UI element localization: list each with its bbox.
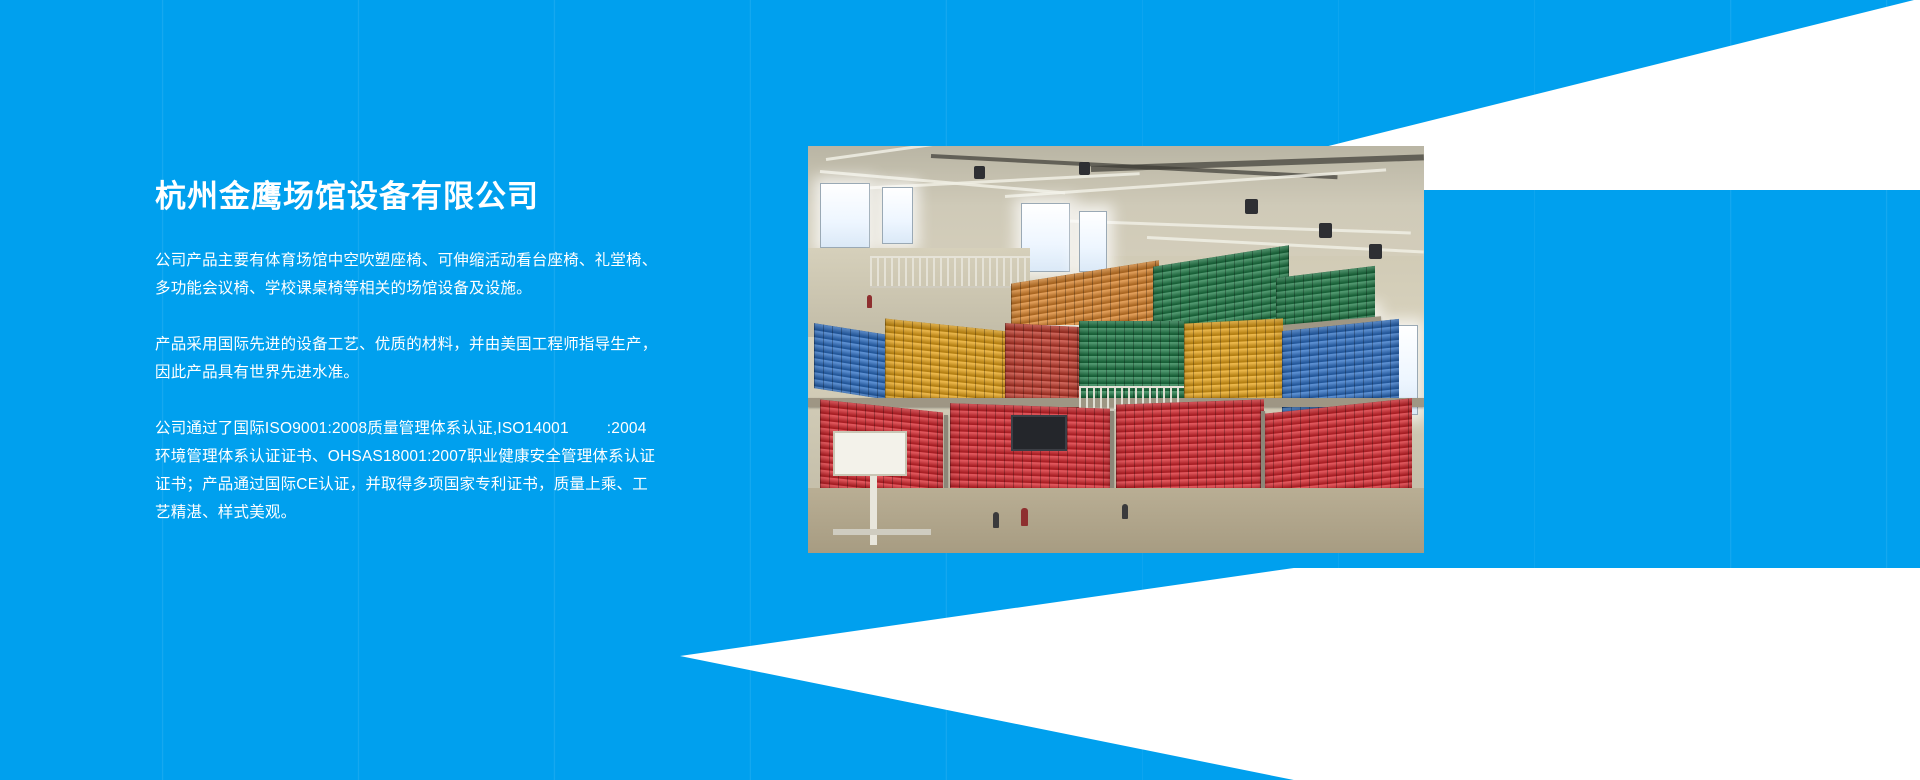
hall-window <box>820 183 869 248</box>
certification-text-part-1: 公司通过了国际ISO9001:2008质量管理体系认证,ISO14001 <box>155 420 569 437</box>
balcony-railing <box>870 256 1030 289</box>
ceiling-light <box>1245 199 1258 214</box>
seat-block-yellow-mid-right <box>1184 318 1283 409</box>
seat-block-red-mid <box>1005 323 1079 408</box>
ceiling-light <box>1369 244 1382 259</box>
person-figure <box>1122 504 1128 519</box>
ceiling-light <box>1319 223 1332 238</box>
hero-banner: 杭州金鹰场馆设备有限公司 公司产品主要有体育场馆中空吹塑座椅、可伸缩活动看台座椅… <box>0 0 1920 780</box>
basketball-hoop-base <box>833 529 932 535</box>
intro-paragraph-products: 公司产品主要有体育场馆中空吹塑座椅、可伸缩活动看台座椅、礼堂椅、多功能会议椅、学… <box>155 247 660 303</box>
gymnasium-photo-image <box>808 146 1424 553</box>
intro-paragraph-certifications: 公司通过了国际ISO9001:2008质量管理体系认证,ISO14001:200… <box>155 415 660 527</box>
court-floor <box>808 488 1424 553</box>
basketball-backboard <box>833 431 907 476</box>
ceiling-light <box>1079 162 1090 175</box>
person-figure <box>867 295 872 308</box>
company-intro-block: 杭州金鹰场馆设备有限公司 公司产品主要有体育场馆中空吹塑座椅、可伸缩活动看台座椅… <box>155 178 660 527</box>
person-figure <box>993 512 999 528</box>
page-title: 杭州金鹰场馆设备有限公司 <box>155 178 660 217</box>
ceiling-light <box>974 166 985 179</box>
seat-block-blue-mid-left <box>814 323 888 400</box>
intro-paragraph-technology: 产品采用国际先进的设备工艺、优质的材料，并由美国工程师指导生产，因此产品具有世界… <box>155 331 660 387</box>
scoreboard <box>1011 415 1066 452</box>
gymnasium-photo <box>808 146 1424 553</box>
hall-window <box>882 187 913 244</box>
person-figure <box>1021 508 1028 526</box>
bottom-white-arrow-shape <box>680 568 1920 780</box>
hall-window <box>1079 211 1107 272</box>
